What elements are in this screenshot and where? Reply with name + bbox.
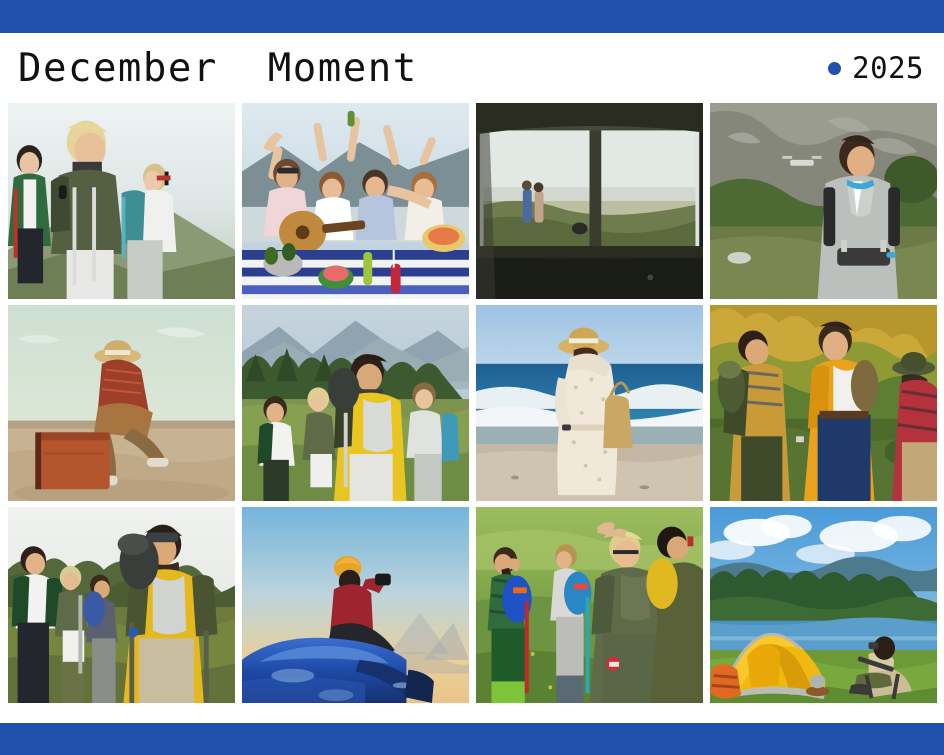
photo-autumn-valley-hikers (710, 305, 937, 501)
calendar-page: December Moment 2025 (0, 0, 944, 755)
photo-cell[interactable]: Group of hikers with trekking poles on a… (8, 103, 235, 299)
page-title: December Moment (18, 49, 418, 88)
photo-cell[interactable]: Couple seen through a camper van window … (476, 103, 703, 299)
bottom-accent-bar (0, 723, 944, 755)
photo-green-slope-hikers (476, 507, 703, 703)
photo-cell[interactable]: Bearded hiker with large backpack leadin… (8, 507, 235, 703)
photo-cell[interactable]: Man with backpack holding a drone contro… (710, 103, 937, 299)
photo-grid: Group of hikers with trekking poles on a… (8, 103, 937, 703)
photo-backpacker-group-field (8, 507, 235, 703)
photo-cell[interactable]: Person in yellow beanie sitting on a car… (242, 507, 469, 703)
photo-hikers-ridge (8, 103, 235, 299)
photo-cell[interactable]: Woman in a straw hat and dress walking a… (476, 305, 703, 501)
year-block: 2025 (828, 54, 930, 83)
photo-suitcase-desert (8, 305, 235, 501)
page-header: December Moment 2025 (0, 33, 944, 103)
photo-drone-pilot-cliff (710, 103, 937, 299)
photo-beach-walk-woman (476, 305, 703, 501)
photo-car-roof-photographer (242, 507, 469, 703)
photo-cell[interactable]: Smiling friends hiking across a green al… (242, 305, 469, 501)
photo-cell[interactable]: Woman in straw hat sitting on a suitcase… (8, 305, 235, 501)
photo-cell[interactable]: Backpackers in yellow jacket on a hillsi… (710, 305, 937, 501)
bullet-dot-icon (828, 62, 841, 75)
photo-alpine-meadow-friends (242, 305, 469, 501)
year-label: 2025 (852, 54, 924, 83)
photo-cell[interactable]: Yellow tent and camper resting in a chai… (710, 507, 937, 703)
photo-cell[interactable]: Hikers with colourful backpacks crossing… (476, 507, 703, 703)
top-accent-bar (0, 0, 944, 33)
photo-picnic-celebration (242, 103, 469, 299)
photo-lakeside-camping (710, 507, 937, 703)
photo-cell[interactable]: Friends celebrating with raised arms at … (242, 103, 469, 299)
photo-van-window-beach (476, 103, 703, 299)
